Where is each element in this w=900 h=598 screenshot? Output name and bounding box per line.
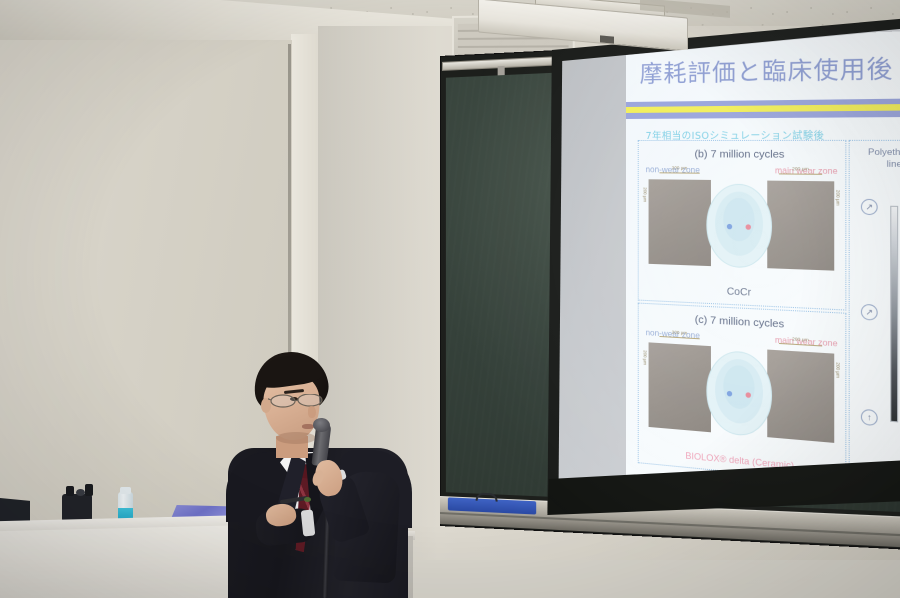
camera-lens — [76, 489, 85, 496]
lamellae-orientation-icon-20: ↗ — [861, 199, 878, 215]
panel-cocr: (b) 7 million cycles non-wear zone main … — [638, 140, 847, 311]
scale-bar-right-vertical-label: 200 μm — [835, 190, 841, 206]
presenter-nose — [308, 406, 316, 418]
micrograph-main-wear — [767, 350, 834, 443]
presenter — [228, 352, 408, 598]
liner-heading: Polyethylene liner — [850, 146, 900, 170]
laser-pointer-tip — [304, 497, 311, 502]
desk-equipment-box — [0, 498, 30, 522]
acetabular-cup-diagram — [702, 344, 777, 443]
liner-heading-line1: Polyethylene — [868, 146, 900, 157]
panel-polyethylene-liner: Polyethylene liner 20° 45° 70° ↗ ↗ ↑ Lam… — [849, 140, 900, 493]
scale-bar-right-vertical-label: 200 μm — [835, 362, 841, 378]
liner-heading-line2: liner — [887, 158, 900, 169]
scale-bar-right-label: 200 μm — [779, 166, 822, 172]
camera-body — [62, 494, 92, 522]
lamellae-orientation-icon-45: ↗ — [861, 304, 878, 321]
panel-cycles-label: (b) 7 million cycles — [639, 148, 846, 161]
desk-front-panel — [0, 525, 258, 598]
glasses-icon — [268, 394, 326, 408]
scale-bar-left-vertical-label: 200 μm — [643, 350, 648, 365]
presentation-slide: 摩耗評価と臨床使用後 7年相当のISOシミュレーション試験後 (b) 7 mil… — [626, 29, 900, 517]
scale-bar-left-label: 200 μm — [659, 165, 699, 170]
panel-ceramic: (c) 7 million cycles non-wear zone main … — [638, 303, 847, 484]
slide-title: 摩耗評価と臨床使用後 — [640, 55, 900, 87]
projected-slide-region: 摩耗評価と臨床使用後 7年相当のISOシミュレーション試験後 (b) 7 mil… — [540, 18, 900, 518]
camera-mount-left — [66, 486, 74, 496]
micrograph-main-wear — [767, 181, 834, 271]
presenter-left-cuff — [301, 509, 316, 536]
lamellae-orientation-icon-70: ↑ — [861, 409, 878, 426]
screen-housing-clip — [600, 35, 614, 43]
material-label: CoCr — [639, 283, 846, 304]
bottle-cap — [120, 487, 131, 494]
eraser-handle — [476, 493, 498, 502]
acetabular-cup-diagram — [702, 178, 777, 273]
orientation-angle-colorbar — [890, 206, 898, 423]
scale-bar-left-vertical-label: 200 μm — [643, 187, 648, 202]
lecture-hall-screenshot: 摩耗評価と臨床使用後 7年相当のISOシミュレーション試験後 (b) 7 mil… — [0, 0, 900, 598]
presenter-chin-shadow — [276, 432, 316, 444]
camera-mount-right — [85, 484, 93, 496]
